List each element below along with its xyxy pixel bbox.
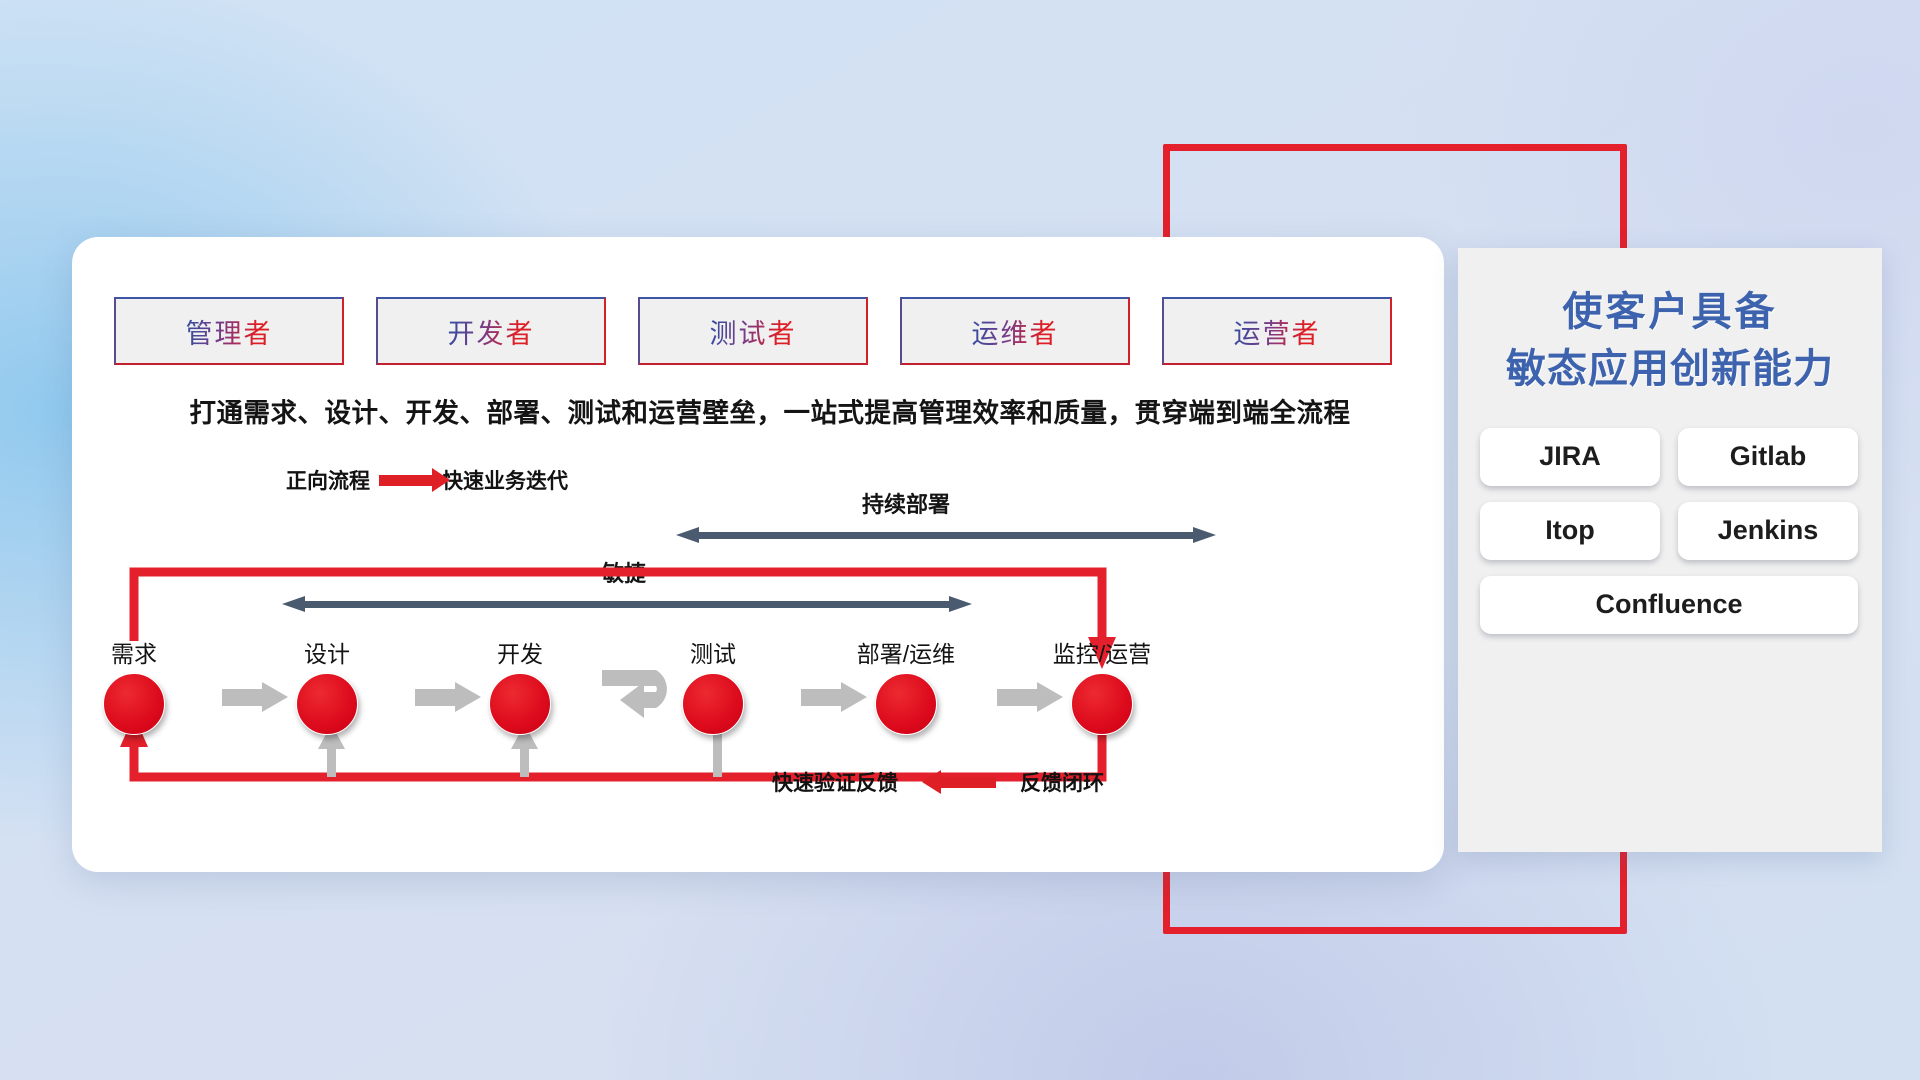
- legend-feedback-right-label: 反馈闭环: [1020, 767, 1104, 797]
- arrow-head: [455, 682, 481, 712]
- arrow-right-gray-icon-4: [997, 682, 1063, 712]
- tool-chip-gitlab[interactable]: Gitlab: [1678, 428, 1858, 486]
- arrow-body: [801, 689, 843, 706]
- sidebar-title-line1: 使客户具备: [1458, 284, 1882, 341]
- stage-label: 部署/运维: [816, 635, 996, 669]
- loop-back-gray-icon: [600, 662, 696, 732]
- legend-feedback-left-label: 快速验证反馈: [772, 767, 898, 797]
- main-diagram-card: 管理者 开发者 测试者 运维者 运营者 打通需求、设计、开发、部署、测试和运营壁…: [72, 237, 1444, 872]
- tool-chip-jira[interactable]: JIRA: [1480, 428, 1660, 486]
- stage-label: 开发: [430, 635, 610, 669]
- arrow-body: [997, 689, 1039, 706]
- tool-chip-itop[interactable]: Itop: [1480, 502, 1660, 560]
- arrow-right-gray-icon-1: [222, 682, 288, 712]
- stage-dot: [103, 673, 165, 735]
- stage-dot: [1071, 673, 1133, 735]
- tools-sidebar-panel: 使客户具备 敏态应用创新能力 JIRA Gitlab Itop Jenkins …: [1458, 248, 1882, 852]
- stage-dot: [296, 673, 358, 735]
- tool-chip-list: JIRA Gitlab Itop Jenkins Confluence: [1458, 428, 1882, 634]
- arrow-head: [841, 682, 867, 712]
- stage-requirements[interactable]: 需求: [44, 635, 224, 735]
- legend-feedback-loop: 快速验证反馈 反馈闭环: [772, 767, 1104, 797]
- arrow-body: [222, 689, 264, 706]
- arrow-right-gray-icon-3: [801, 682, 867, 712]
- tool-chip-jenkins[interactable]: Jenkins: [1678, 502, 1858, 560]
- arrow-left-red-icon: [940, 777, 996, 788]
- sidebar-title-line2: 敏态应用创新能力: [1458, 341, 1882, 398]
- stage-dot: [489, 673, 551, 735]
- tool-chip-confluence[interactable]: Confluence: [1480, 576, 1858, 634]
- arrow-body: [415, 689, 457, 706]
- stage-label: 监控/运营: [1012, 635, 1192, 669]
- stage-label: 设计: [237, 635, 417, 669]
- stage-label: 需求: [44, 635, 224, 669]
- arrow-head: [1037, 682, 1063, 712]
- arrow-right-gray-icon-2: [415, 682, 481, 712]
- sidebar-title: 使客户具备 敏态应用创新能力: [1458, 284, 1882, 398]
- stage-dot: [875, 673, 937, 735]
- pipeline-stages: 需求 设计 开发 测试 部署/运维 监控/运营: [72, 237, 1444, 872]
- arrow-head: [262, 682, 288, 712]
